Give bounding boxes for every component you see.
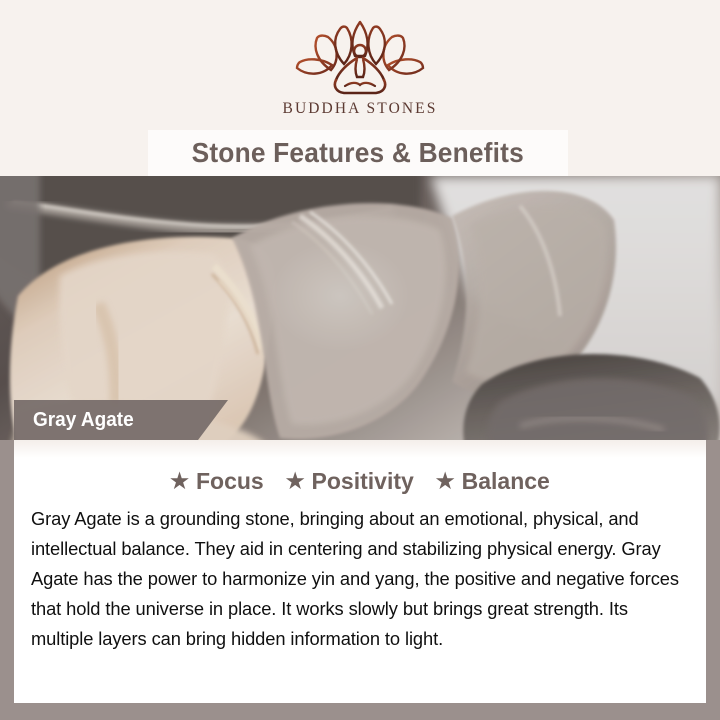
keyword-label: Focus bbox=[196, 468, 264, 495]
keyword-label: Positivity bbox=[312, 468, 414, 495]
star-icon: ★ bbox=[170, 471, 189, 492]
keyword-list: ★ Focus ★ Positivity ★ Balance bbox=[14, 468, 706, 495]
photo-caption-label: Gray Agate bbox=[33, 409, 134, 432]
keyword-item-positivity: ★ Positivity bbox=[286, 468, 414, 495]
content-panel: ★ Focus ★ Positivity ★ Balance Gray Agat… bbox=[14, 440, 706, 703]
keyword-item-focus: ★ Focus bbox=[170, 468, 264, 495]
description-text: Gray Agate is a grounding stone, bringin… bbox=[31, 504, 681, 654]
frame-bottom-border bbox=[0, 703, 720, 720]
keyword-label: Balance bbox=[462, 468, 550, 495]
star-icon: ★ bbox=[436, 471, 455, 492]
keyword-item-balance: ★ Balance bbox=[436, 468, 550, 495]
title-banner: Stone Features & Benefits bbox=[148, 130, 568, 176]
brand-logo: BUDDHA STONES bbox=[0, 18, 720, 118]
photo-caption: Gray Agate bbox=[14, 400, 228, 440]
lotus-meditation-icon bbox=[287, 18, 433, 96]
star-icon: ★ bbox=[286, 471, 305, 492]
infographic-card: BUDDHA STONES Stone Features & Benefits bbox=[0, 0, 720, 720]
page-title: Stone Features & Benefits bbox=[192, 137, 524, 169]
brand-name: BUDDHA STONES bbox=[283, 100, 438, 118]
panel-top-fade bbox=[14, 440, 706, 458]
